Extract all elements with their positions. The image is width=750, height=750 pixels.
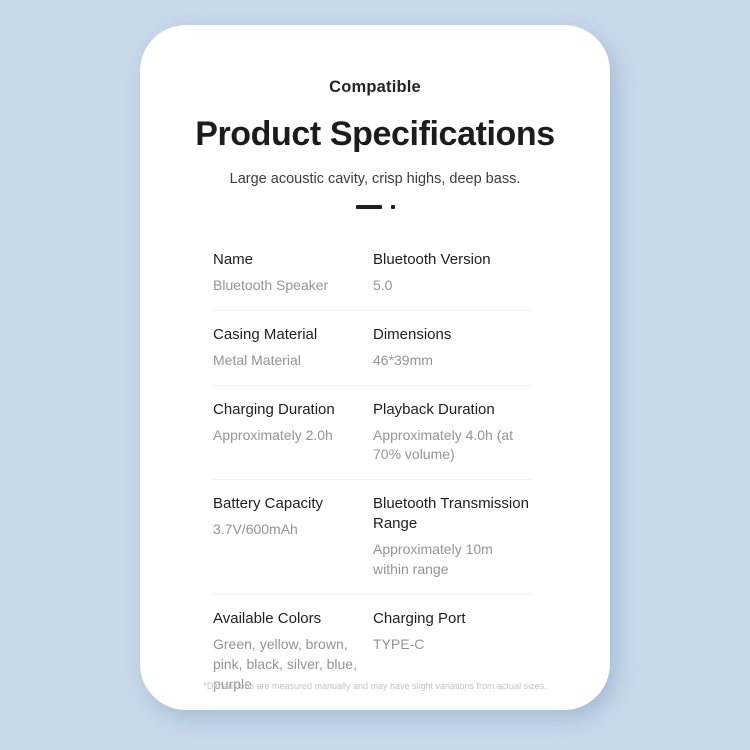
spec-value: TYPE-C	[373, 635, 531, 655]
page-canvas: Compatible Product Specifications Large …	[0, 0, 750, 750]
footnote-text: *Dimensions are measured manually and ma…	[140, 681, 610, 693]
table-row: Name Bluetooth Speaker Bluetooth Version…	[213, 244, 531, 311]
spec-cell-bluetooth-version: Bluetooth Version 5.0	[372, 250, 531, 296]
spec-value: Approximately 2.0h	[213, 426, 362, 446]
spec-cell-dimensions: Dimensions 46*39mm	[372, 325, 531, 371]
page-title: Product Specifications	[140, 115, 610, 154]
spec-cell-charging-duration: Charging Duration Approximately 2.0h	[213, 400, 372, 446]
product-specifications-card: Compatible Product Specifications Large …	[140, 25, 610, 710]
table-row: Battery Capacity 3.7V/600mAh Bluetooth T…	[213, 480, 531, 595]
spec-label: Bluetooth Transmission Range	[373, 494, 531, 534]
dash-ornament-icon	[356, 205, 382, 209]
card-header: Compatible Product Specifications Large …	[140, 25, 610, 209]
eyebrow-label: Compatible	[140, 78, 610, 98]
spec-value: 46*39mm	[373, 351, 531, 371]
spec-cell-casing-material: Casing Material Metal Material	[213, 325, 372, 371]
spec-cell-bluetooth-transmission-range: Bluetooth Transmission Range Approximate…	[372, 494, 531, 580]
subtitle-text: Large acoustic cavity, crisp highs, deep…	[140, 170, 610, 188]
spec-value: Bluetooth Speaker	[213, 276, 362, 296]
specifications-table: Name Bluetooth Speaker Bluetooth Version…	[213, 244, 531, 709]
dot-ornament-icon	[391, 205, 395, 209]
spec-label: Bluetooth Version	[373, 250, 531, 270]
spec-label: Dimensions	[373, 325, 531, 345]
spec-value: Approximately 10m within range	[373, 540, 531, 580]
spec-cell-charging-port: Charging Port TYPE-C	[372, 609, 531, 655]
spec-cell-name: Name Bluetooth Speaker	[213, 250, 372, 296]
spec-label: Casing Material	[213, 325, 362, 345]
spec-cell-battery-capacity: Battery Capacity 3.7V/600mAh	[213, 494, 372, 540]
spec-label: Charging Port	[373, 609, 531, 629]
spec-cell-playback-duration: Playback Duration Approximately 4.0h (at…	[372, 400, 531, 466]
spec-label: Name	[213, 250, 362, 270]
header-ornament	[140, 205, 610, 209]
spec-label: Playback Duration	[373, 400, 531, 420]
table-row: Charging Duration Approximately 2.0h Pla…	[213, 386, 531, 481]
spec-label: Battery Capacity	[213, 494, 362, 514]
spec-value: 3.7V/600mAh	[213, 520, 362, 540]
spec-label: Charging Duration	[213, 400, 362, 420]
table-row: Casing Material Metal Material Dimension…	[213, 311, 531, 386]
spec-value: Metal Material	[213, 351, 362, 371]
spec-value: 5.0	[373, 276, 531, 296]
spec-value: Approximately 4.0h (at 70% volume)	[373, 426, 531, 466]
spec-label: Available Colors	[213, 609, 362, 629]
